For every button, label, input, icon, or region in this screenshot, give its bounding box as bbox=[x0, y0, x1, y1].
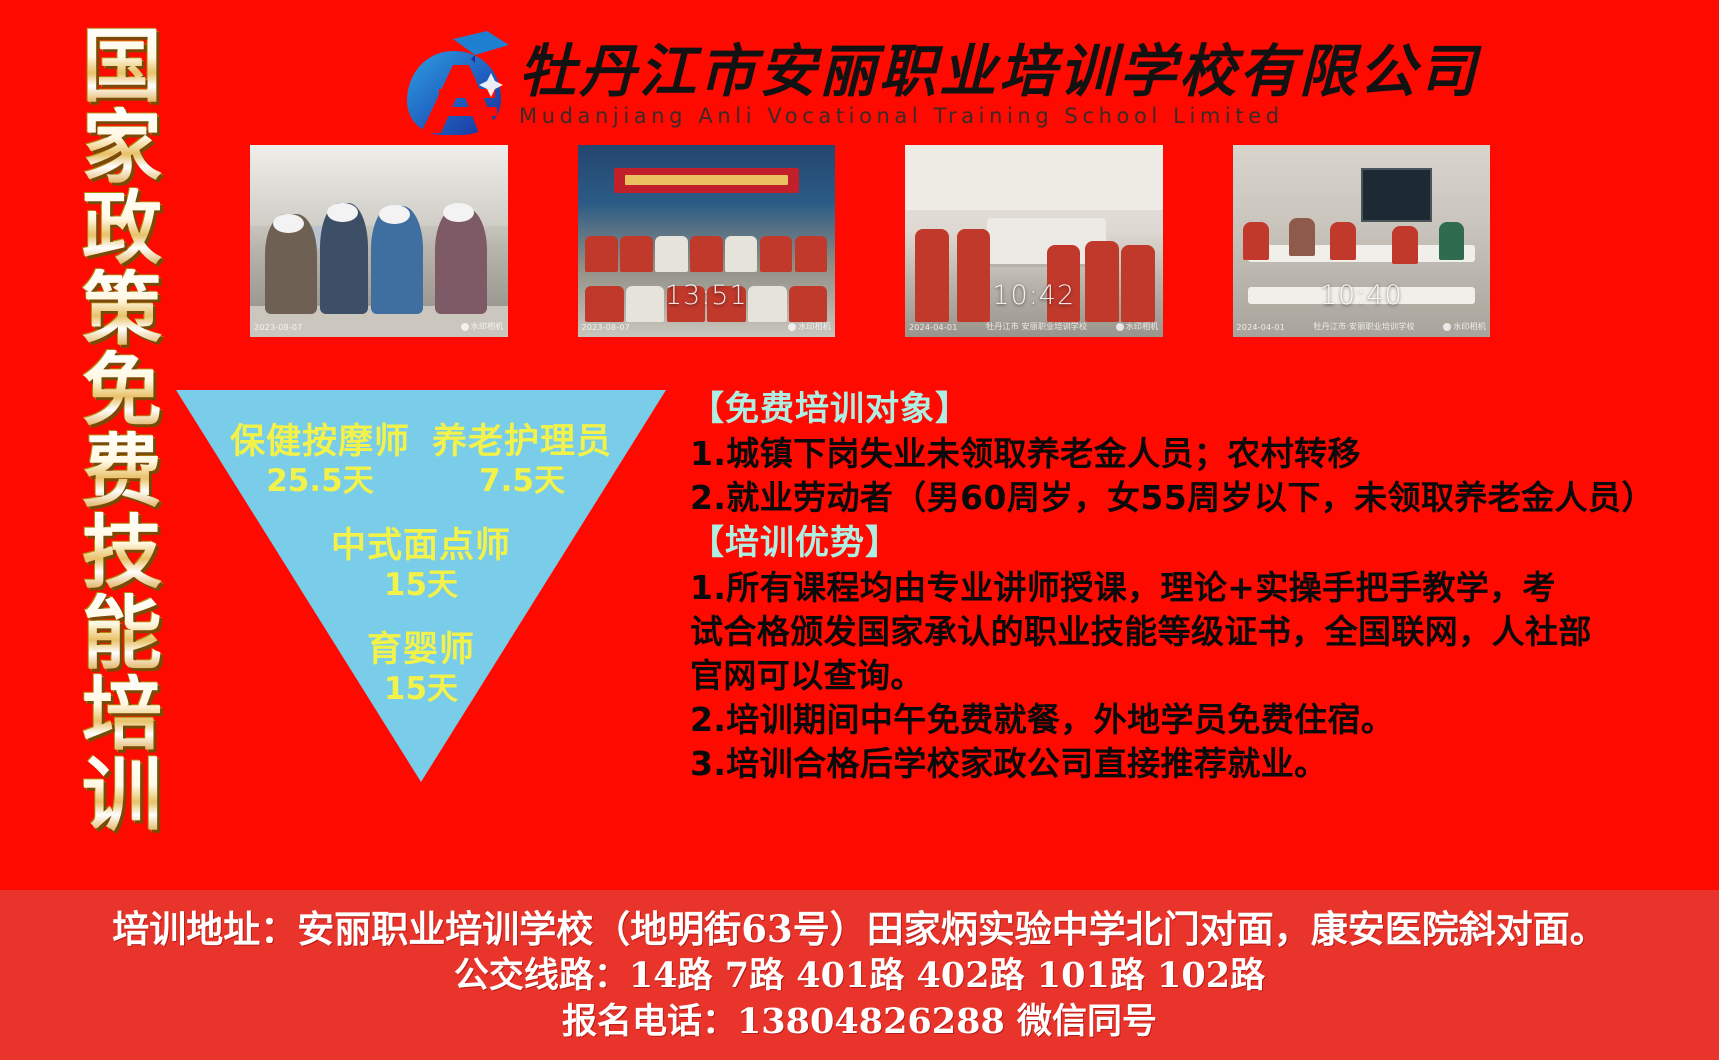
photo-meta: 2023-08-07 水印相机 bbox=[254, 321, 504, 332]
advantage-item-2: 2.培训期间中午免费就餐，外地学员免费住宿。 bbox=[690, 698, 1700, 742]
photo-timestamp: 13:51 bbox=[578, 280, 836, 311]
course-item-infantcare: 育婴师 15天 bbox=[176, 630, 666, 708]
section-heading-eligibility: 【免费培训对象】 bbox=[690, 386, 1700, 432]
school-name-en: Mudanjiang Anli Vocational Training Scho… bbox=[519, 103, 1479, 129]
advantage-item-1b: 试合格颁发国家承认的职业技能等级证书，全国联网，人社部 bbox=[690, 610, 1700, 654]
photo-date: 2023-08-07 bbox=[254, 323, 303, 332]
footer-bus-routes: 公交线路：14路 7路 401路 402路 101路 102路 bbox=[454, 954, 1265, 998]
watermark-label: 水印相机 bbox=[461, 321, 504, 332]
course-days: 25.5天 bbox=[266, 462, 374, 500]
vertical-banner-title: 国 家 政 策 免 费 技 能 培 训 bbox=[63, 26, 181, 766]
watermark-label: 水印相机 bbox=[1116, 321, 1159, 332]
footer-address: 培训地址：安丽职业培训学校（地明街63号）田家炳实验中学北门对面，康安医院斜对面… bbox=[112, 906, 1607, 952]
school-name-cn: 牡丹江市安丽职业培训学校有限公司 bbox=[519, 41, 1479, 103]
watermark-label: 水印相机 bbox=[1443, 321, 1486, 332]
course-days: 7.5天 bbox=[479, 462, 565, 500]
vertical-title-char: 费 bbox=[82, 431, 162, 512]
photo-meta: 2023-08-07 水印相机 bbox=[582, 321, 832, 332]
course-name: 保健按摩师 bbox=[230, 422, 410, 462]
footer-phone: 报名电话：13804826288 微信同号 bbox=[562, 1000, 1157, 1044]
info-panel: 【免费培训对象】 1.城镇下岗失业未领取养老金人员；农村转移 2.就业劳动者（男… bbox=[690, 386, 1700, 786]
course-name: 育婴师 bbox=[176, 630, 666, 670]
photo-date: 2023-08-07 bbox=[582, 323, 631, 332]
photo-location: 牡丹江市·安丽职业培训学校 bbox=[1314, 321, 1415, 332]
vertical-title-char: 家 bbox=[82, 107, 162, 188]
advantage-item-1c: 官网可以查询。 bbox=[690, 654, 1700, 698]
photo-timestamp: 10:40 bbox=[1233, 280, 1491, 311]
section-heading-advantages: 【培训优势】 bbox=[690, 520, 1700, 566]
course-item-massage: 保健按摩师 25.5天 bbox=[230, 422, 410, 500]
photo-strip: 2023-08-07 水印相机 13:51 2023-08-07 水印相机 bbox=[250, 145, 1490, 340]
photo-date: 2024-04-01 bbox=[909, 323, 958, 332]
vertical-title-char: 免 bbox=[82, 350, 162, 431]
course-item-pastry: 中式面点师 15天 bbox=[176, 526, 666, 604]
photo-timestamp: 10:42 bbox=[905, 280, 1163, 311]
course-item-eldercare: 养老护理员 7.5天 bbox=[432, 422, 612, 500]
header: 牡丹江市安丽职业培训学校有限公司 Mudanjiang Anli Vocatio… bbox=[395, 22, 1295, 147]
course-triangle: 保健按摩师 25.5天 养老护理员 7.5天 中式面点师 15天 育婴师 15天 bbox=[176, 390, 666, 782]
vertical-title-char: 能 bbox=[82, 593, 162, 674]
advantage-item-3: 3.培训合格后学校家政公司直接推荐就业。 bbox=[690, 742, 1700, 786]
vertical-title-char: 国 bbox=[82, 26, 162, 107]
eligibility-item-1: 1.城镇下岗失业未领取养老金人员；农村转移 bbox=[690, 432, 1700, 476]
advantage-item-1a: 1.所有课程均由专业讲师授课，理论+实操手把手教学，考 bbox=[690, 566, 1700, 610]
photo-group-banner: 13:51 2023-08-07 水印相机 bbox=[578, 145, 836, 337]
triangle-text-layer: 保健按摩师 25.5天 养老护理员 7.5天 中式面点师 15天 育婴师 15天 bbox=[176, 390, 666, 782]
photo-meta: 2024-04-01 牡丹江市 安丽职业培训学校 水印相机 bbox=[909, 321, 1159, 332]
course-row-top: 保健按摩师 25.5天 养老护理员 7.5天 bbox=[176, 422, 666, 500]
photo-nursing-care: 10:42 2024-04-01 牡丹江市 安丽职业培训学校 水印相机 bbox=[905, 145, 1163, 337]
vertical-title-char: 策 bbox=[82, 269, 162, 350]
watermark-label: 水印相机 bbox=[788, 321, 831, 332]
photo-location: 牡丹江市 安丽职业培训学校 bbox=[986, 321, 1087, 332]
poster-root: 国 家 政 策 免 费 技 能 培 训 bbox=[0, 0, 1719, 1060]
footer-contact-block: 培训地址：安丽职业培训学校（地明街63号）田家炳实验中学北门对面，康安医院斜对面… bbox=[0, 890, 1719, 1060]
course-days: 15天 bbox=[176, 670, 666, 708]
eligibility-item-2: 2.就业劳动者（男60周岁，女55周岁以下，未领取养老金人员） bbox=[690, 476, 1700, 520]
photo-meta: 2024-04-01 牡丹江市·安丽职业培训学校 水印相机 bbox=[1237, 321, 1487, 332]
course-name: 养老护理员 bbox=[432, 422, 612, 462]
photo-classroom: 10:40 2024-04-01 牡丹江市·安丽职业培训学校 水印相机 bbox=[1233, 145, 1491, 337]
graduation-cap-logo-icon bbox=[395, 29, 513, 141]
photo-date: 2024-04-01 bbox=[1237, 323, 1286, 332]
vertical-title-char: 政 bbox=[82, 188, 162, 269]
vertical-title-char: 训 bbox=[82, 755, 162, 836]
vertical-title-char: 培 bbox=[82, 674, 162, 755]
vertical-title-char: 技 bbox=[82, 512, 162, 593]
logo-text-block: 牡丹江市安丽职业培训学校有限公司 Mudanjiang Anli Vocatio… bbox=[519, 41, 1479, 129]
course-name: 中式面点师 bbox=[176, 526, 666, 566]
photo-pastry-class: 2023-08-07 水印相机 bbox=[250, 145, 508, 337]
course-days: 15天 bbox=[176, 566, 666, 604]
